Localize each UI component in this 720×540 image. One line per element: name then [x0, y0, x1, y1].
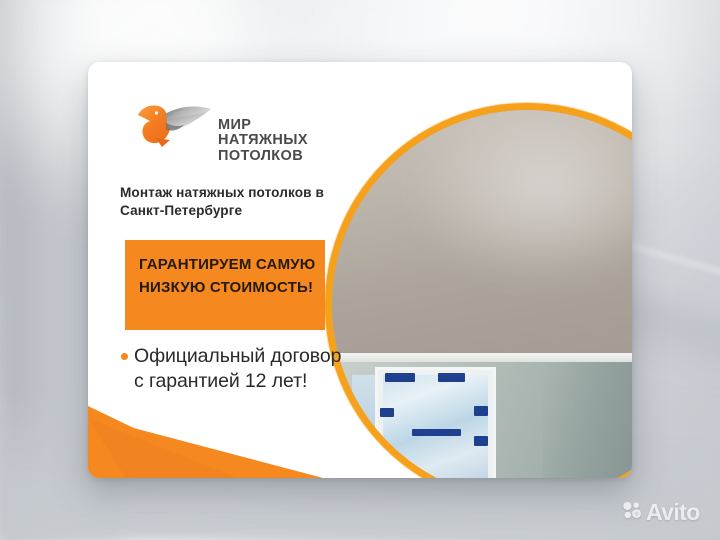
card-subtitle: Монтаж натяжных потолков в Санкт-Петербу…: [120, 184, 365, 220]
photo-window-tape: [385, 373, 415, 382]
advert-card[interactable]: МИР НАТЯЖНЫХ ПОТОЛКОВ Монтаж натяжных по…: [88, 62, 632, 478]
bullet-dot-icon: [121, 353, 128, 360]
photo-window-tape: [474, 406, 488, 416]
photo-window: [375, 367, 496, 478]
promo-banner-text: ГАРАНТИРУЕМ САМУЮ НИЗКУЮ СТОИМОСТЬ!: [139, 254, 317, 300]
photo-window-tape: [438, 373, 466, 382]
promo-banner: ГАРАНТИРУЕМ САМУЮ НИЗКУЮ СТОИМОСТЬ!: [125, 240, 325, 330]
orange-corner-swoosh: [88, 406, 388, 478]
avito-watermark-label: Avito: [646, 501, 700, 524]
dove-bird-logo-icon: [132, 98, 218, 150]
photo-window-glass: [383, 375, 488, 478]
guarantee-bullet-text: Официальный договор с гарантией 12 лет!: [134, 344, 351, 394]
photo-window-tape: [474, 436, 488, 446]
photo-wall-shade: [543, 362, 632, 478]
guarantee-bullet: Официальный договор с гарантией 12 лет!: [121, 344, 351, 394]
brand-logo-text: МИР НАТЯЖНЫХ ПОТОЛКОВ: [218, 118, 308, 164]
screenshot-root: МИР НАТЯЖНЫХ ПОТОЛКОВ Монтаж натяжных по…: [0, 0, 720, 540]
avito-dots-icon: [622, 500, 642, 525]
brand-logo: МИР НАТЯЖНЫХ ПОТОЛКОВ: [132, 98, 332, 170]
photo-window-tape: [412, 429, 460, 437]
avito-watermark: Avito: [622, 500, 700, 525]
